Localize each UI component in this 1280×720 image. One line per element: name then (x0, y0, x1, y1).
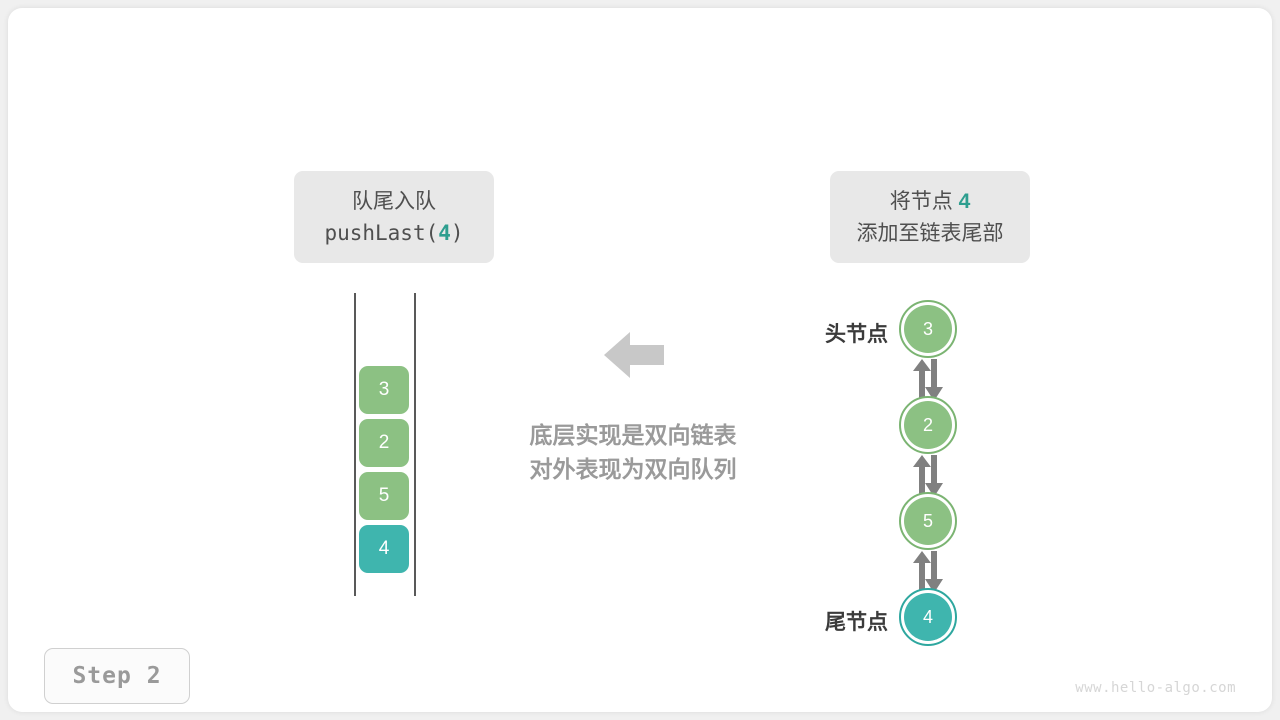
arrow-left-icon (604, 330, 664, 380)
head-node-label: 头节点 (768, 318, 888, 348)
description-label-line1: 将节点 4 (890, 188, 971, 215)
queue-rail-right (414, 293, 416, 596)
bidirectional-link-icon (904, 455, 952, 497)
diagram-card: 队尾入队 pushLast(4) 将节点 4 添加至链表尾部 3 2 5 4 底… (8, 8, 1272, 712)
operation-label-call: pushLast(4) (324, 220, 463, 247)
list-node: 2 (899, 396, 957, 454)
bidirectional-link-icon (904, 551, 952, 593)
queue-item-value: 4 (379, 538, 390, 560)
list-node: 3 (899, 300, 957, 358)
list-node: 5 (899, 492, 957, 550)
diagram-canvas: 队尾入队 pushLast(4) 将节点 4 添加至链表尾部 3 2 5 4 底… (0, 0, 1280, 720)
operation-call-arg: 4 (438, 221, 451, 245)
queue-item: 5 (359, 472, 409, 520)
list-node-value: 3 (923, 319, 933, 340)
description-label-line2: 添加至链表尾部 (857, 220, 1004, 247)
queue-item-value: 3 (379, 379, 390, 401)
queue-item-highlighted: 4 (359, 525, 409, 573)
center-caption-line1: 底层实现是双向链表 (478, 418, 788, 452)
list-node-value: 2 (923, 415, 933, 436)
description-prefix: 将节点 (890, 190, 959, 213)
list-node-highlighted: 4 (899, 588, 957, 646)
center-caption: 底层实现是双向链表 对外表现为双向队列 (478, 418, 788, 486)
operation-label-title: 队尾入队 (352, 188, 436, 215)
list-node-inner: 2 (904, 401, 952, 449)
center-caption-line2: 对外表现为双向队列 (478, 452, 788, 486)
list-node-inner: 3 (904, 305, 952, 353)
description-label-chip: 将节点 4 添加至链表尾部 (830, 171, 1030, 263)
step-badge: Step 2 (44, 648, 190, 704)
operation-call-close: ) (451, 221, 464, 245)
list-node-inner: 5 (904, 497, 952, 545)
list-node-value: 4 (923, 607, 933, 628)
queue-item: 3 (359, 366, 409, 414)
queue-item-value: 5 (379, 485, 390, 507)
operation-call-name: pushLast( (324, 221, 438, 245)
tail-node-label: 尾节点 (768, 606, 888, 636)
bidirectional-link-icon (904, 359, 952, 401)
queue-rail-left (354, 293, 356, 596)
operation-label-chip: 队尾入队 pushLast(4) (294, 171, 494, 263)
list-node-value: 5 (923, 511, 933, 532)
queue-item-value: 2 (379, 432, 390, 454)
description-value: 4 (959, 190, 971, 213)
watermark: www.hello-algo.com (1075, 680, 1236, 696)
queue-item: 2 (359, 419, 409, 467)
list-node-inner: 4 (904, 593, 952, 641)
